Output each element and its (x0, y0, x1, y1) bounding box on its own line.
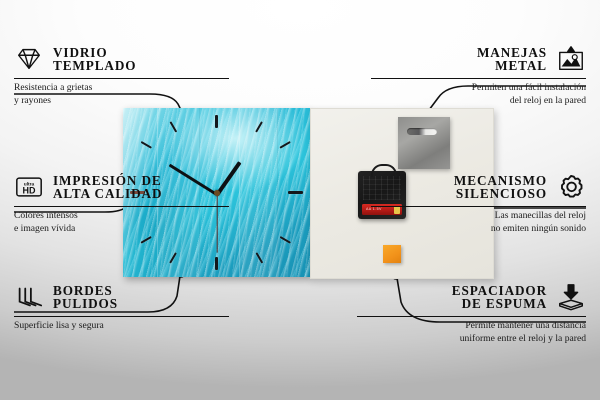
feature-vidrio-templado: VIDRIO TEMPLADO Resistencia a grietas y … (14, 44, 229, 107)
gear-icon (556, 172, 586, 202)
feature-title-line2: TEMPLADO (53, 59, 136, 72)
feature-description: Permite mantener una distancia uniforme … (357, 320, 586, 345)
feature-manejas-metal: MANEJAS METAL Permiten una fácil instala… (371, 44, 586, 107)
feature-impresion-alta-calidad: ultra HD IMPRESIÓN DE ALTA CALIDAD Color… (14, 172, 229, 235)
clock-tick (215, 115, 217, 128)
foam-spacer (383, 245, 401, 263)
feature-title-line2: METAL (495, 59, 547, 72)
feature-title-line2: DE ESPUMA (462, 297, 547, 310)
hanger-slot (407, 128, 437, 135)
feature-title-line2: ALTA CALIDAD (53, 187, 162, 200)
feature-espaciador-espuma: ESPACIADOR DE ESPUMA Permite mantener un… (357, 282, 586, 345)
feature-rule (371, 78, 586, 79)
feature-rule (357, 316, 586, 317)
feature-rule (371, 206, 586, 207)
feature-description: Superficie lisa y segura (14, 320, 229, 333)
feature-title-line2: PULIDOS (53, 297, 118, 310)
ultra-hd-icon: ultra HD (14, 172, 44, 202)
feature-description: Colores intensos e imagen vívida (14, 210, 229, 235)
metal-hanger-plate (398, 117, 450, 169)
feature-title-line2: SILENCIOSO (456, 187, 547, 200)
feature-rule (14, 78, 229, 79)
clock-tick (279, 236, 291, 244)
feature-title-line1: BORDES (53, 284, 118, 297)
foam-spacer-icon (556, 282, 586, 312)
clock-tick (141, 236, 153, 244)
feature-title-line1: ESPACIADOR (452, 284, 547, 297)
clock-tick (141, 141, 153, 149)
feature-title-line1: MECANISMO (454, 174, 547, 187)
clock-tick (215, 257, 217, 270)
svg-text:HD: HD (23, 186, 36, 196)
diamond-icon (14, 44, 44, 74)
feature-description: Permiten una fácil instalación del reloj… (371, 82, 586, 107)
feature-description: Las manecillas del reloj no emiten ningú… (371, 210, 586, 235)
infographic-canvas: AA 1.5V VIDRIO TEMPLADO Resistencia a gr… (0, 0, 600, 400)
feature-title-line1: VIDRIO (53, 46, 136, 59)
feature-rule (14, 206, 229, 207)
feature-mecanismo-silencioso: MECANISMO SILENCIOSO Las manecillas del … (371, 172, 586, 235)
clock-tick (288, 191, 303, 194)
picture-hanger-icon (556, 44, 586, 74)
feature-description: Resistencia a grietas y rayones (14, 82, 229, 107)
polished-edges-icon (14, 282, 44, 312)
feature-title-line1: MANEJAS (477, 46, 547, 59)
feature-title-line1: IMPRESIÓN DE (53, 174, 162, 187)
feature-rule (14, 316, 229, 317)
clock-tick (279, 141, 291, 149)
feature-bordes-pulidos: BORDES PULIDOS Superficie lisa y segura (14, 282, 229, 333)
